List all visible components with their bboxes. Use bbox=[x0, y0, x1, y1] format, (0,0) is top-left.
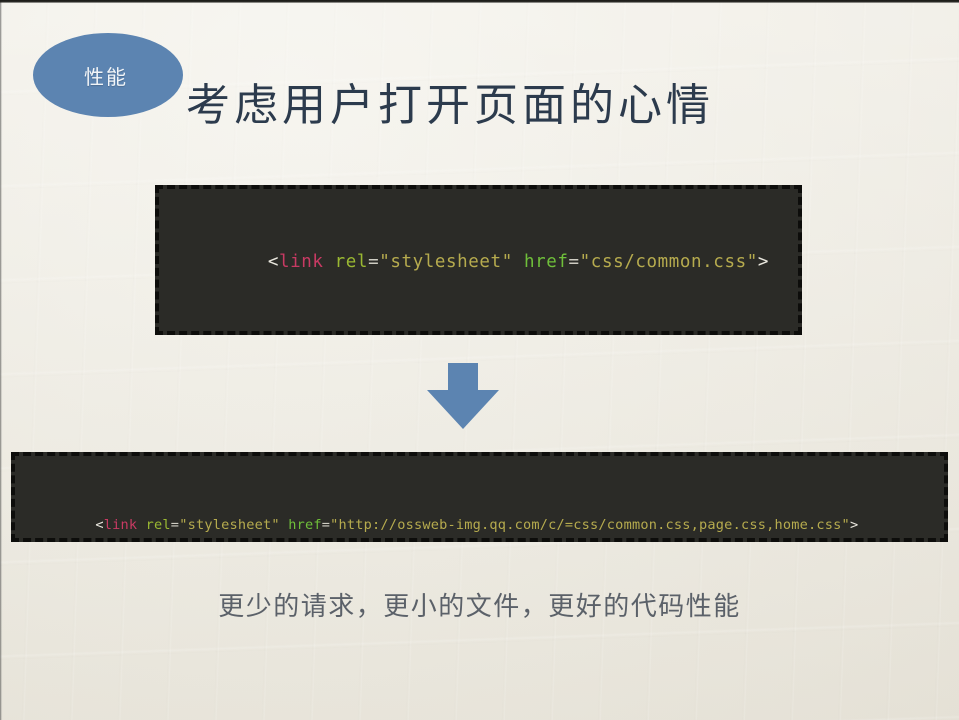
code-token-tag: link bbox=[104, 517, 138, 533]
arrow-shaft bbox=[448, 363, 478, 391]
speech-bubble-label: 性能 bbox=[33, 33, 183, 117]
code-token-value-rel: "stylesheet" bbox=[379, 252, 513, 272]
code-token-equals: = bbox=[368, 252, 379, 272]
down-arrow-icon bbox=[427, 363, 499, 429]
code-token-open-bracket: < bbox=[95, 517, 103, 533]
code-token-close-bracket: > bbox=[850, 517, 858, 533]
code-token-equals: = bbox=[569, 252, 580, 272]
code-token-open-bracket: < bbox=[268, 252, 279, 272]
code-token-attr-rel: rel bbox=[324, 252, 369, 272]
code-line: <link rel="stylesheet" href="css/common.… bbox=[201, 217, 798, 307]
code-token-attr-href: href bbox=[280, 517, 322, 533]
slide-caption: 更少的请求，更小的文件，更好的代码性能 bbox=[0, 586, 959, 623]
code-block-after: <link rel="stylesheet" href="http://ossw… bbox=[11, 452, 948, 542]
code-token-equals: = bbox=[171, 517, 179, 533]
slide-top-edge bbox=[0, 0, 959, 3]
code-line: <link rel="stylesheet" href="css/page.cs… bbox=[201, 307, 798, 335]
arrow-head bbox=[427, 390, 499, 429]
code-token-value-href: "http://ossweb-img.qq.com/c/=css/common.… bbox=[330, 517, 850, 533]
code-token-close-bracket: > bbox=[758, 252, 769, 272]
code-block-before: <link rel="stylesheet" href="css/common.… bbox=[155, 185, 802, 335]
presentation-slide: 性能 考虑用户打开页面的心情 <link rel="stylesheet" hr… bbox=[0, 0, 959, 720]
code-token-value-rel: "stylesheet" bbox=[179, 517, 280, 533]
code-line: <link rel="stylesheet" href="http://ossw… bbox=[45, 486, 944, 542]
code-token-equals: = bbox=[322, 517, 330, 533]
code-token-tag: link bbox=[279, 252, 324, 272]
code-token-attr-href: href bbox=[513, 252, 569, 272]
page-title: 考虑用户打开页面的心情 bbox=[186, 78, 714, 134]
code-token-value-href: "css/common.css" bbox=[580, 252, 758, 272]
speech-bubble-badge: 性能 bbox=[33, 33, 183, 117]
code-token-attr-rel: rel bbox=[137, 517, 171, 533]
